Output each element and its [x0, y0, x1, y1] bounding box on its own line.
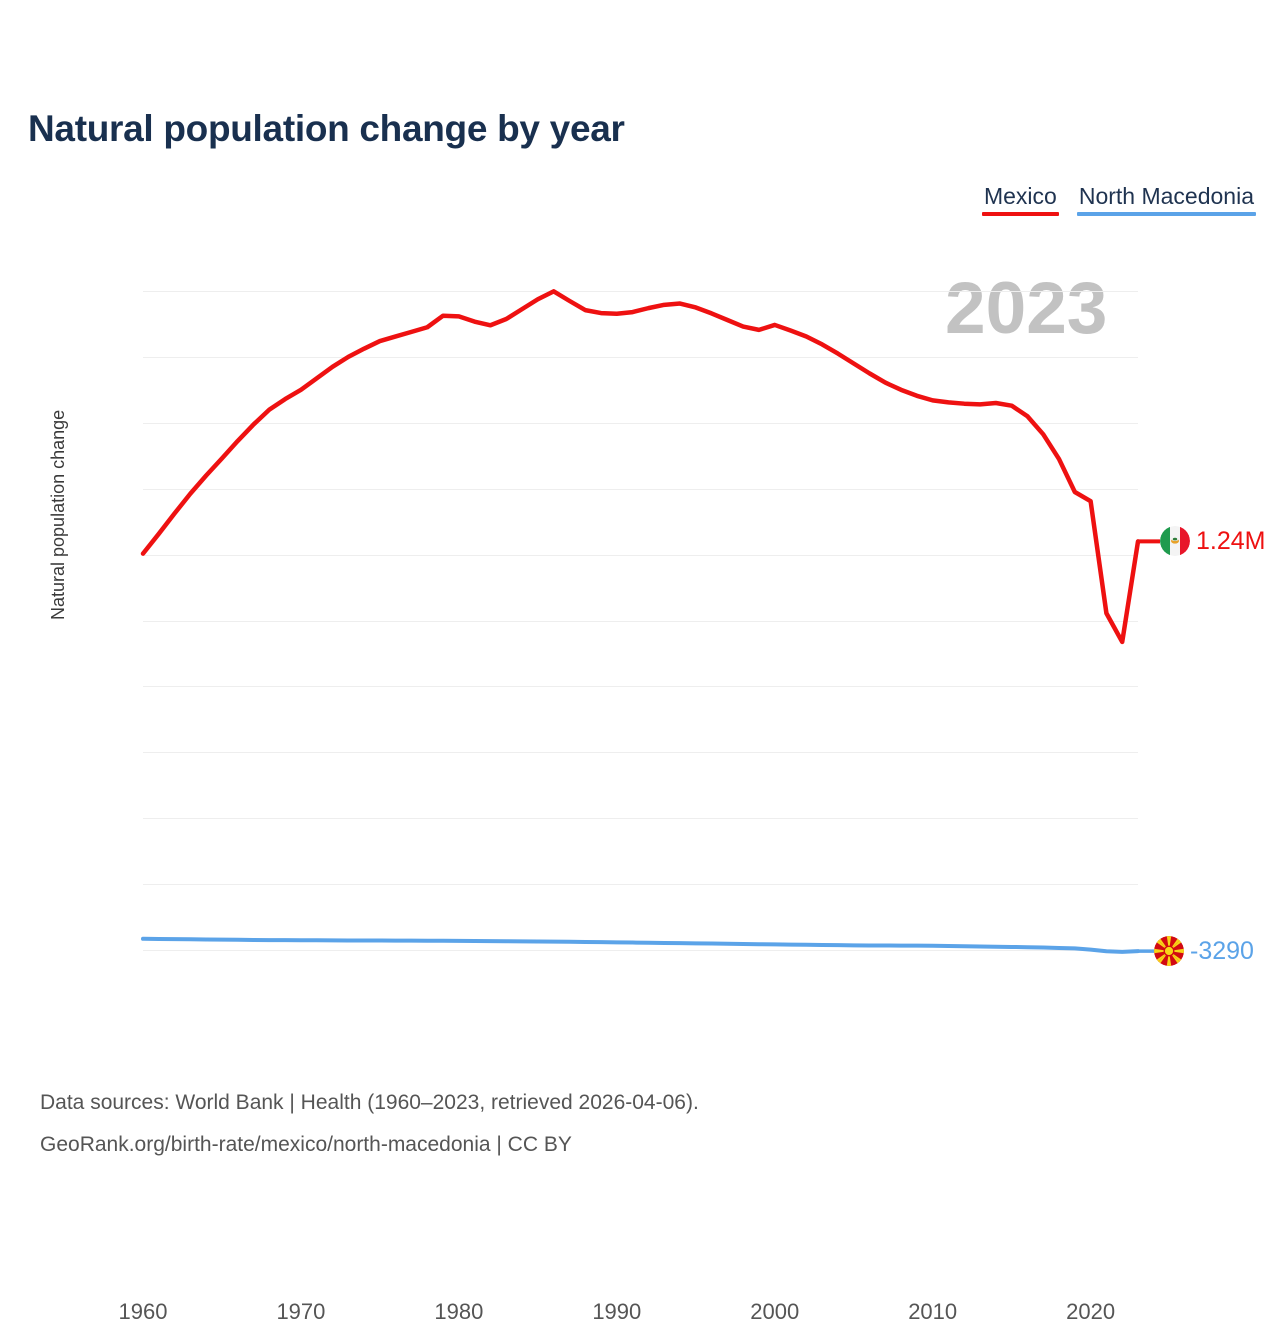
- gridline: [143, 950, 1138, 951]
- series-lines: [143, 291, 1138, 950]
- end-label-north-macedonia[interactable]: -3290: [1154, 936, 1254, 966]
- end-label-mexico[interactable]: 1.24M: [1160, 526, 1265, 556]
- line-series-mexico: [143, 291, 1138, 642]
- north-macedonia-flag-icon: [1154, 936, 1184, 966]
- legend-item-mexico[interactable]: Mexico: [982, 183, 1059, 216]
- footer-attribution: GeoRank.org/birth-rate/mexico/north-mace…: [40, 1124, 699, 1166]
- y-axis-title: Natural population change: [48, 410, 69, 620]
- x-axis-tick-label: 2010: [908, 1299, 957, 1325]
- end-label-value: -3290: [1190, 937, 1254, 966]
- legend-item-label: Mexico: [982, 183, 1059, 209]
- legend-color-rule-north-macedonia: [1077, 212, 1256, 216]
- x-axis-tick-label: 1960: [119, 1299, 168, 1325]
- page-title: Natural population change by year: [28, 108, 625, 150]
- x-axis-tick-label: 1990: [592, 1299, 641, 1325]
- legend-item-label: North Macedonia: [1077, 183, 1256, 209]
- end-label-value: 1.24M: [1196, 527, 1265, 556]
- chart-legend: Mexico North Macedonia: [982, 183, 1256, 216]
- legend-color-rule-mexico: [982, 212, 1059, 216]
- x-axis-tick-label: 1970: [276, 1299, 325, 1325]
- legend-item-north-macedonia[interactable]: North Macedonia: [1077, 183, 1256, 216]
- x-axis-tick-label: 1980: [434, 1299, 483, 1325]
- line-series-north-macedonia: [143, 939, 1138, 952]
- x-axis-tick-label: 2000: [750, 1299, 799, 1325]
- x-axis-tick-label: 2020: [1066, 1299, 1115, 1325]
- footer: Data sources: World Bank | Health (1960–…: [40, 1082, 699, 1166]
- plot-area: 0200K400K600K800K1M1.2M1.4M1.6M1.8M2M 19…: [143, 291, 1138, 950]
- chart-container: Natural population change by year Mexico…: [0, 0, 1280, 1280]
- footer-data-sources: Data sources: World Bank | Health (1960–…: [40, 1082, 699, 1124]
- mexico-flag-icon: [1160, 526, 1190, 556]
